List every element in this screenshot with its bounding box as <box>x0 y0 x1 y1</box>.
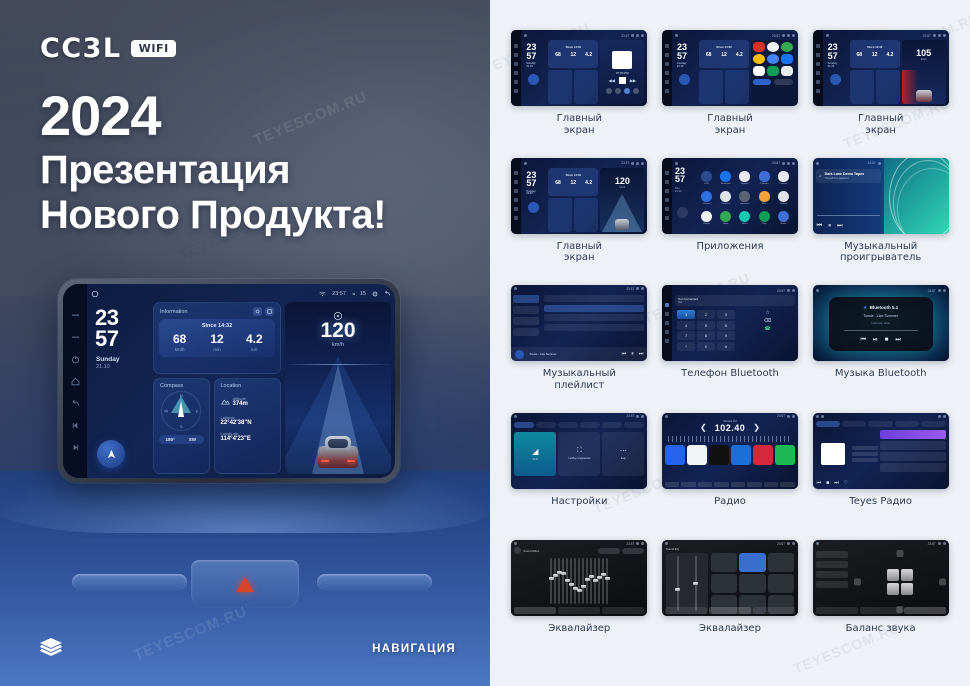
speed-value: 120 <box>285 320 391 341</box>
headline-line-2: Нового Продукта! <box>40 193 386 238</box>
backspace-icon[interactable]: ⌫ <box>740 318 795 324</box>
thumbnail-music-playlist[interactable]: 23:57 Toosie - Like Summer ⏮⏸⏭ <box>511 285 647 361</box>
compass-location-row: Compass N S W E 180° <box>153 378 281 474</box>
right-screens-panel: TEYESCOM.RU TEYESCOM.RU TEYESCOM.RU TEYE… <box>490 0 970 686</box>
home-dashboard: 23 57 Sunday 21.10 In <box>91 302 391 474</box>
screen-cell[interactable]: 23:57 ◢ Wi-Fi ⛶ CarPlay соединение <box>504 413 655 541</box>
screen-cell[interactable]: 23:57 2357Sunday21.10 Since 14:3268124.2… <box>805 30 956 158</box>
thumbnail-sound-balance[interactable]: 23:57 <box>813 540 949 616</box>
wifi-badge-icon: WIFI <box>131 40 176 57</box>
player-track: Dark Lane Demo Tapes <box>825 172 864 176</box>
compass-mark-e: E <box>196 409 199 414</box>
equalizer-bars[interactable] <box>511 558 647 604</box>
balance-footer-tabs[interactable] <box>816 607 946 614</box>
settings-card-label: Ещё <box>621 457 626 460</box>
trip-stat: 68 km/h <box>161 333 198 352</box>
bluetooth-now-playing: ◕ Bluetooth 5.1 Toosie - Like Summer Unk… <box>829 297 933 351</box>
screen-cell[interactable]: 23:57 2357Sunday21.10 Since 14:3268124.2… <box>504 158 655 286</box>
head-unit-sidebar[interactable] <box>63 284 87 478</box>
thumbnail-radio[interactable]: 23:57 Москва FM ❮ 102.40 ❯ <box>662 413 798 489</box>
trip-summary: Since 14:32 68 km/h 12 min <box>159 319 275 357</box>
screen-caption: Телефон Bluetooth <box>681 368 779 380</box>
speed-limit-icon <box>333 308 343 318</box>
status-bar: 23:57 15 <box>91 287 391 300</box>
clock-column: 23 57 Sunday 21.10 <box>91 302 149 474</box>
compass-mark-w: W <box>164 409 168 414</box>
screen-cell[interactable]: 23:57 ♫ Dark Lane Demo Tapes Перейти в д… <box>805 158 956 286</box>
longitude-value: 114°4'23"E <box>221 436 276 442</box>
trip-stat-value: 4.2 <box>236 333 273 345</box>
location-card-title: Location <box>221 383 276 389</box>
wifi-icon <box>319 291 326 297</box>
navigation-arrow-icon[interactable] <box>97 440 125 468</box>
screen-caption: Радио <box>714 496 746 508</box>
next-track-icon[interactable]: ⏭ <box>834 480 839 486</box>
screen-caption: Настройки <box>551 496 607 508</box>
stop-icon[interactable]: ■ <box>826 480 829 486</box>
thumbnail-music-player[interactable]: 23:57 ♫ Dark Lane Demo Tapes Перейти в д… <box>813 158 949 234</box>
trip-stat-value: 12 <box>198 333 235 345</box>
clock-date: 21.10 <box>91 364 149 370</box>
next-track-icon[interactable]: ⏭ <box>837 223 842 230</box>
trip-stat: 4.2 km <box>236 333 273 352</box>
prev-track-icon[interactable] <box>71 421 80 430</box>
trip-since: Since 14:32 <box>161 323 273 329</box>
screen-caption: Музыкальныйплейлист <box>543 368 616 392</box>
playlist-sidebar[interactable] <box>511 292 541 347</box>
thumb-speed-value: 120 <box>615 176 630 186</box>
trip-stat-value: 68 <box>161 333 198 345</box>
compass-card-title: Compass <box>160 383 183 389</box>
air-vent-left <box>72 574 187 590</box>
bluetooth-icon: ◕ <box>863 305 867 311</box>
head-unit-device: 23:57 15 23 57 Sunday <box>58 279 400 483</box>
headline-block: 2024 Презентация Нового Продукта! <box>40 88 386 238</box>
compass-direction: SW <box>181 437 203 442</box>
product-logo: CC3L WIFI <box>40 33 176 64</box>
screen-caption: Эквалайзер <box>699 623 761 635</box>
seat-positions-icon <box>887 569 913 595</box>
layers-icon[interactable] <box>38 636 64 658</box>
balance-presets[interactable] <box>813 547 851 616</box>
clock-day: Sunday <box>91 356 149 363</box>
left-hero-panel: CC3L WIFI 2024 Презентация Нового Продук… <box>0 0 490 686</box>
equalizer-footer-tabs[interactable] <box>665 607 795 614</box>
hazard-triangle-icon <box>236 577 254 592</box>
screen-caption: Приложения <box>696 241 763 253</box>
equalizer-footer-tabs[interactable] <box>514 607 644 614</box>
wifi-icon: ◢ <box>532 447 538 456</box>
screen-caption: Музыка Bluetooth <box>835 368 927 380</box>
trip-stat: 12 min <box>198 333 235 352</box>
screen-caption: Музыкальныйпроигрыватель <box>840 241 921 265</box>
screen-caption: Главныйэкран <box>707 113 752 137</box>
status-time: 23:57 <box>332 291 346 297</box>
balance-up-arrow[interactable] <box>896 550 903 557</box>
navigation-footer: НАВИГАЦИЯ <box>0 616 490 686</box>
radio-tuning-scale[interactable] <box>668 436 792 442</box>
screen-cell[interactable]: 23:57 <box>805 540 956 668</box>
altitude-label: Altitude <box>233 396 248 401</box>
bt-title: Bluetooth 5.1 <box>870 305 899 310</box>
screen-cell[interactable]: 2357 Sun21.10 23:57 GPS Bluetooth Музыка <box>655 158 806 286</box>
screen-caption: Эквалайзер <box>548 623 610 635</box>
settings-card-label: CarPlay соединение <box>568 457 590 460</box>
longitude-row: Longitude 114°4'23"E <box>221 431 276 442</box>
next-track-icon[interactable] <box>71 443 80 452</box>
hazard-button-pod[interactable] <box>191 560 299 608</box>
expand-icon[interactable] <box>265 307 274 316</box>
screen-cell[interactable]: 23:57 Москва FM ❮ 102.40 ❯ <box>655 413 806 541</box>
volume-down-icon[interactable] <box>71 333 80 342</box>
compass-mark-n: N <box>180 393 183 398</box>
playlist-rows[interactable] <box>541 292 647 347</box>
info-column: Information Since 14:32 68 <box>153 302 281 474</box>
prev-track-icon[interactable]: ⏮ <box>817 480 822 486</box>
gear-icon[interactable] <box>372 291 378 297</box>
mountain-icon <box>221 392 230 410</box>
altitude-value: 374m <box>233 401 248 407</box>
screen-cell[interactable]: 23:57 2357Sunday21.10 Since 14:3268124.2 <box>655 30 806 158</box>
power-icon[interactable] <box>71 355 80 364</box>
favorite-icon[interactable]: ♡ <box>844 480 848 486</box>
next-track-icon[interactable]: ⏭ <box>895 337 900 344</box>
thumbnail-music-bluetooth[interactable]: 23:57 ◕ Bluetooth 5.1 Toosie - Like Summ… <box>813 285 949 361</box>
prev-track-icon[interactable]: ⏮ <box>861 337 866 344</box>
thumbnail-home-speed2[interactable]: 23:57 2357Sunday21.10 Since 14:3268124.2… <box>511 158 647 234</box>
car-icon: ⛶ <box>577 447 582 455</box>
head-unit-screen[interactable]: 23:57 15 23 57 Sunday <box>63 284 395 478</box>
trip-stat-unit: km <box>236 347 273 352</box>
screen-caption: Баланс звука <box>846 623 916 635</box>
balance-right-arrow[interactable] <box>939 578 946 585</box>
thumbnail-phone-bluetooth[interactable]: 23:57 Not Connected Dial 123 456 789 <box>662 285 798 361</box>
volume-up-icon[interactable] <box>71 311 80 320</box>
trip-stat-unit: min <box>198 347 235 352</box>
compass-rose-icon: N S W E <box>161 391 201 431</box>
screens-grid: 23:57 2357Sunday21.10 Since 14:3268124.2… <box>490 0 970 686</box>
back-icon[interactable] <box>71 399 80 408</box>
information-card-title: Information <box>160 309 188 315</box>
dialpad[interactable]: 123 456 789 *0# <box>675 308 737 353</box>
screen-caption: Главныйэкран <box>557 241 602 265</box>
road-visualization <box>285 356 391 474</box>
favorite-icon[interactable]: ☆ <box>740 310 795 316</box>
radio-toolbar[interactable] <box>665 482 795 487</box>
home-icon[interactable] <box>71 377 80 386</box>
latitude-value: 22°42'38"N <box>221 420 276 426</box>
speed-unit: km/h <box>285 342 391 348</box>
thumbnail-home-speed[interactable]: 23:57 2357Sunday21.10 Since 14:3268124.2… <box>813 30 949 106</box>
compass-readout: 180° SW <box>159 435 204 444</box>
prev-station-icon[interactable]: ❮ <box>700 423 707 432</box>
compass-mark-s: S <box>180 424 183 429</box>
settings-card-label: Wi-Fi <box>533 458 539 461</box>
thumbnail-home-apps[interactable]: 23:57 2357Sunday21.10 Since 14:3268124.2 <box>662 30 798 106</box>
compass-heading: 180° <box>159 437 181 442</box>
screen-cell[interactable]: 23:57 2357Sunday21.10 Since 14:3268124.2… <box>504 30 655 158</box>
screen-caption: Главныйэкран <box>557 113 602 137</box>
back-icon[interactable] <box>384 290 391 297</box>
radio-frequency: 102.40 <box>715 423 746 433</box>
thumbnail-equalizer-simple[interactable]: 23:57 Sound EQ <box>662 540 798 616</box>
thumbnail-teyes-radio[interactable]: ⏮ ■ ⏭ ♡ <box>813 413 949 489</box>
navigation-label: НАВИГАЦИЯ <box>372 643 456 655</box>
screen-cell[interactable]: ⏮ ■ ⏭ ♡ Teyes Радио <box>805 413 956 541</box>
balance-pad[interactable] <box>851 547 949 616</box>
screen-cell[interactable]: 23:57 Sound Effect <box>504 540 655 668</box>
screen-cell[interactable]: 23:57 Toosie - Like Summer ⏮⏸⏭ <box>504 285 655 413</box>
latitude-row: Latitude 22°42'38"N <box>221 415 276 426</box>
headline-year: 2024 <box>40 88 386 144</box>
stop-icon[interactable]: ■ <box>885 337 889 344</box>
balance-left-arrow[interactable] <box>854 578 861 585</box>
settings-tabs[interactable] <box>511 420 647 430</box>
volume-indicator: 15 <box>352 291 366 297</box>
car-3d-model <box>318 434 358 468</box>
presentation-slide: CC3L WIFI 2024 Презентация Нового Продук… <box>0 0 970 686</box>
screen-caption: Teyes Радио <box>849 496 912 508</box>
trip-stats: 68 km/h 12 min 4.2 <box>161 333 273 352</box>
screen-cell[interactable]: 23:57 ◕ Bluetooth 5.1 Toosie - Like Summ… <box>805 285 956 413</box>
volume-value: 15 <box>360 291 366 297</box>
settings-card-carplay[interactable]: ⛶ CarPlay соединение <box>558 432 600 476</box>
screen-caption: Главныйэкран <box>858 113 903 137</box>
thumbnail-apps[interactable]: 2357 Sun21.10 23:57 GPS Bluetooth Музыка <box>662 158 798 234</box>
settings-cards[interactable]: ◢ Wi-Fi ⛶ CarPlay соединение ⋯ Ещё <box>511 430 647 478</box>
radio-presets[interactable] <box>662 445 798 465</box>
trip-stat-unit: km/h <box>161 347 198 352</box>
information-card[interactable]: Information Since 14:32 68 <box>153 302 281 374</box>
prev-track-icon[interactable]: ⏮ <box>817 223 822 230</box>
settings-card-wifi[interactable]: ◢ Wi-Fi <box>514 432 556 476</box>
altitude-row: Altitude 374m <box>221 392 276 410</box>
home-icon[interactable] <box>91 290 99 298</box>
head-unit-content: 23:57 15 23 57 Sunday <box>87 284 395 478</box>
compass-card[interactable]: Compass N S W E 180° <box>153 378 210 474</box>
call-icon[interactable]: ☎ <box>740 326 795 332</box>
screen-cell[interactable]: 23:57 Sound EQ <box>655 540 806 668</box>
bt-artist: Unknown artist <box>871 321 890 325</box>
pause-icon[interactable]: ⏸ <box>828 223 831 230</box>
speed-panel[interactable]: 120 km/h <box>285 302 391 474</box>
player-artist: Перейти в даркнет <box>825 176 864 180</box>
play-pause-icon[interactable]: ⏯ <box>873 337 878 344</box>
clock-minutes: 57 <box>91 329 149 350</box>
thumbnail-settings[interactable]: 23:57 ◢ Wi-Fi ⛶ CarPlay соединение <box>511 413 647 489</box>
settings-card-more[interactable]: ⋯ Ещё <box>602 432 644 476</box>
thumbnail-equalizer-bars[interactable]: 23:57 Sound Effect <box>511 540 647 616</box>
more-icon: ⋯ <box>620 447 627 455</box>
next-station-icon[interactable]: ❯ <box>753 423 760 432</box>
refresh-icon[interactable] <box>253 307 262 316</box>
air-vent-right <box>317 574 432 590</box>
information-card-header: Information <box>154 303 280 316</box>
thumbnail-home-media[interactable]: 23:57 2357Sunday21.10 Since 14:3268124.2… <box>511 30 647 106</box>
screen-cell[interactable]: 23:57 Not Connected Dial 123 456 789 <box>655 285 806 413</box>
thumb-speed-value: 105 <box>916 48 931 58</box>
logo-text: CC3L <box>40 33 122 64</box>
headline-line-1: Презентация <box>40 148 386 193</box>
bt-track: Toosie - Like Summer <box>863 314 898 318</box>
location-card[interactable]: Location Altitude 374m <box>214 378 282 474</box>
